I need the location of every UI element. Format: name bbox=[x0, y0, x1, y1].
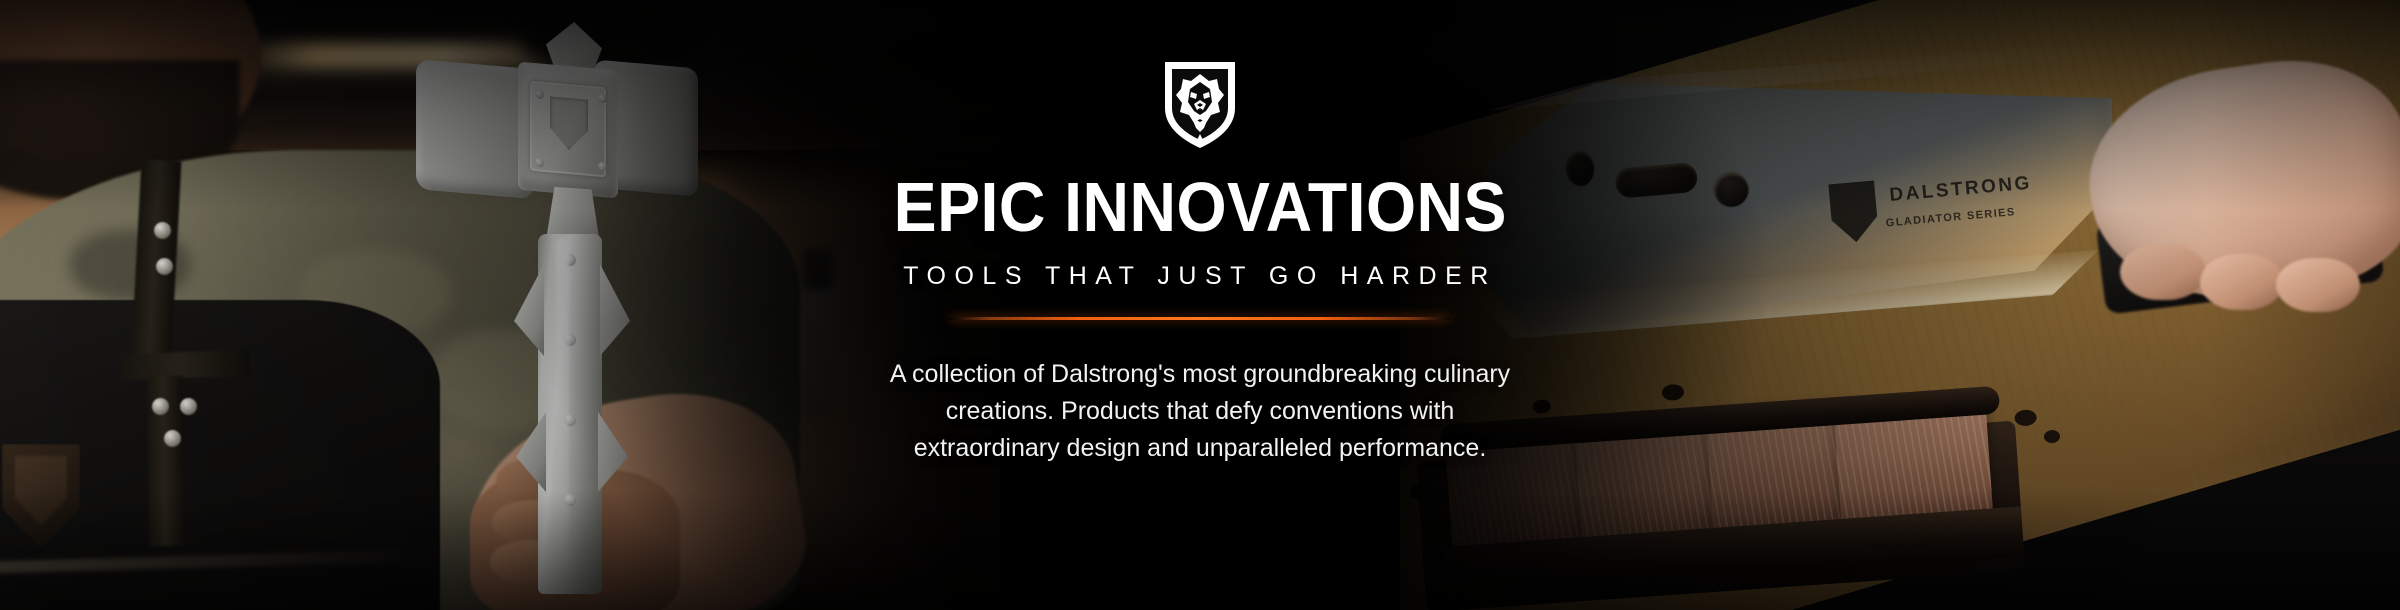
orange-divider bbox=[950, 317, 1450, 320]
handle-wing-right-2 bbox=[598, 412, 628, 492]
handle-wing-right bbox=[600, 264, 630, 356]
meat-tenderizer-hammer bbox=[398, 28, 698, 588]
apron-strap-cross bbox=[120, 350, 251, 381]
page-title: EPIC INNOVATIONS bbox=[893, 172, 1506, 242]
handle-wing-left bbox=[514, 264, 544, 356]
hammer-stud bbox=[535, 158, 544, 168]
epic-innovations-hero-banner: DALSTRONG GLADIATOR SERIES bbox=[0, 0, 2400, 610]
gloved-finger bbox=[2200, 254, 2284, 310]
gloved-finger bbox=[2120, 244, 2206, 300]
hammer-head-left bbox=[416, 59, 534, 199]
banner-content: EPIC INNOVATIONS TOOLS THAT JUST GO HARD… bbox=[700, 0, 1700, 610]
lion-shield-logo-icon bbox=[1162, 58, 1238, 150]
hammer-stud bbox=[598, 162, 607, 172]
apron-rivet bbox=[152, 398, 169, 415]
page-subtitle: TOOLS THAT JUST GO HARDER bbox=[903, 262, 1497, 291]
hammer-stud bbox=[598, 94, 607, 104]
banner-description: A collection of Dalstrong's most groundb… bbox=[880, 356, 1520, 467]
gloved-finger bbox=[2276, 258, 2360, 312]
bark-crumb bbox=[2014, 409, 2037, 426]
hammer-stud bbox=[535, 90, 544, 100]
handle-highlight bbox=[556, 238, 569, 586]
apron-rivet bbox=[156, 258, 173, 275]
handle-wing-left-2 bbox=[516, 412, 546, 492]
apron-rivet bbox=[154, 222, 171, 239]
apron-rivet bbox=[180, 398, 197, 415]
apron-rivet bbox=[164, 430, 181, 447]
